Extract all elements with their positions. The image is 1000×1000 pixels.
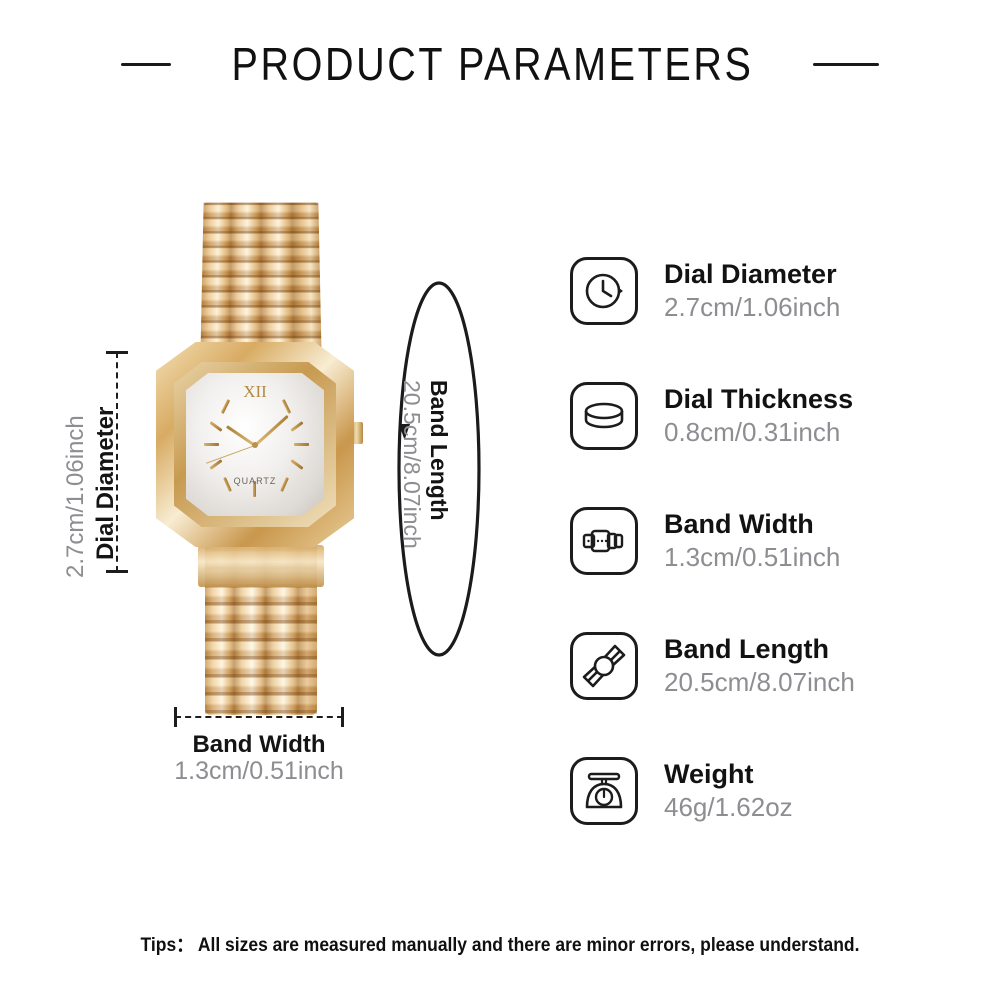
dial-roman-numeral: XII	[186, 382, 324, 402]
title-rule-right-icon	[813, 63, 879, 66]
band-length-callout-label: Band Length	[425, 380, 452, 521]
spec-value: 46g/1.62oz	[664, 792, 793, 823]
dial-marker	[204, 443, 219, 446]
dial-diameter-cap-bottom	[106, 570, 128, 573]
spec-row-dial-thickness: Dial Thickness 0.8cm/0.31inch	[570, 375, 970, 457]
watch-buckle-icon	[570, 507, 638, 575]
spec-value: 1.3cm/0.51inch	[664, 542, 840, 573]
dial-marker	[290, 421, 303, 432]
spec-row-band-length: Band Length 20.5cm/8.07inch	[570, 625, 970, 707]
watch-case: XII QUARTZ	[156, 342, 354, 547]
dial-diameter-value: 2.7cm/1.06inch	[62, 415, 90, 578]
spec-label: Dial Diameter	[664, 259, 840, 290]
watch-dial: XII QUARTZ	[186, 373, 324, 516]
watch-hand-minute	[254, 415, 289, 447]
spec-label: Band Length	[664, 634, 855, 665]
spec-text-dial-diameter: Dial Diameter 2.7cm/1.06inch	[664, 259, 840, 323]
dial-marker	[209, 421, 222, 432]
dial-marker	[290, 459, 303, 470]
watch-hand-second	[206, 445, 255, 464]
spec-row-weight: Weight 46g/1.62oz	[570, 750, 970, 832]
spec-value: 2.7cm/1.06inch	[664, 292, 840, 323]
band-width-cap-right	[341, 707, 344, 727]
watch-bracelet-upper	[200, 203, 321, 362]
product-watch-image: XII QUARTZ	[150, 200, 370, 720]
spec-row-dial-diameter: Dial Diameter 2.7cm/1.06inch	[570, 250, 970, 332]
watch-strap-icon	[570, 632, 638, 700]
band-width-callout-value: 1.3cm/0.51inch	[120, 757, 398, 786]
dial-brand-text: QUARTZ	[186, 476, 324, 486]
spec-label: Weight	[664, 759, 793, 790]
band-width-measure-line	[175, 716, 343, 718]
spec-row-band-width: Band Width 1.3cm/0.51inch	[570, 500, 970, 582]
band-length-callout-value: 20.5cm/8.07inch	[398, 380, 425, 549]
watch-clasp	[198, 545, 324, 587]
kitchen-scale-icon	[570, 757, 638, 825]
disc-thickness-icon	[570, 382, 638, 450]
spec-label: Dial Thickness	[664, 384, 853, 415]
watch-dial-icon	[570, 257, 638, 325]
spec-value: 20.5cm/8.07inch	[664, 667, 855, 698]
dial-marker	[294, 443, 309, 446]
spec-text-dial-thickness: Dial Thickness 0.8cm/0.31inch	[664, 384, 853, 448]
spec-list: Dial Diameter 2.7cm/1.06inch Dial Thickn…	[570, 250, 970, 875]
dial-diameter-label: Dial Diameter	[92, 407, 120, 560]
spec-text-band-length: Band Length 20.5cm/8.07inch	[664, 634, 855, 698]
band-width-callout-label: Band Width	[130, 731, 388, 759]
spec-value: 0.8cm/0.31inch	[664, 417, 853, 448]
footer-tips: Tips： All sizes are measured manually an…	[40, 930, 960, 957]
page-title: PRODUCT PARAMETERS	[231, 37, 753, 91]
spec-text-band-width: Band Width 1.3cm/0.51inch	[664, 509, 840, 573]
spec-text-weight: Weight 46g/1.62oz	[664, 759, 793, 823]
spec-label: Band Width	[664, 509, 840, 540]
watch-hand-pin	[252, 442, 258, 448]
title-rule-left-icon	[121, 63, 171, 66]
page-header: PRODUCT PARAMETERS	[0, 36, 1000, 92]
